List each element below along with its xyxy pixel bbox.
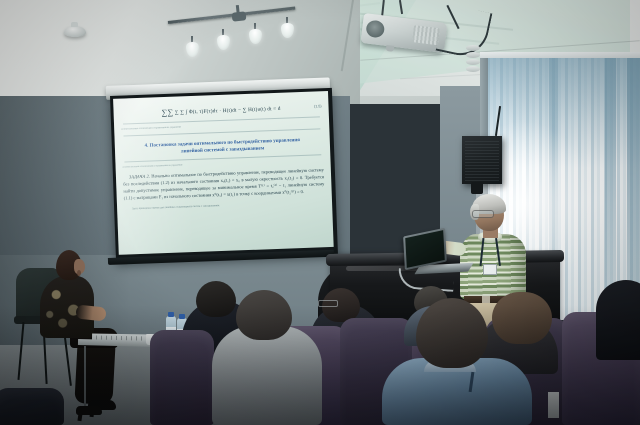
lecture-room-photo: ∑∑ ∑ ∑ ∫ Φ(t, τ)F(τ)dτ · H(t)dt − ∑ H(t)… <box>0 0 640 425</box>
slide-body: ЗАДАЧА 2. Начально оптимальное по быстро… <box>123 167 325 202</box>
audience-head <box>236 290 292 340</box>
pendant-lamp-icon <box>217 29 230 48</box>
bottle-cap <box>179 314 185 319</box>
laptop[interactable] <box>404 232 470 280</box>
smoke-detector-icon <box>64 26 86 37</box>
speaker-bracket <box>471 182 483 194</box>
woman-legs <box>74 341 115 405</box>
projection-screen: ∑∑ ∑ ∑ ∫ Φ(t, τ)F(τ)dτ · H(t)dt − ∑ H(t)… <box>110 88 338 262</box>
audience-head <box>492 292 552 344</box>
slide-formula-text: ∑ ∑ ∫ Φ(t, τ)F(τ)dτ · H(t)dt − ∑ H(t)u(t… <box>175 106 281 116</box>
slide-content: ∑∑ ∑ ∑ ∫ Φ(t, τ)F(τ)dτ · H(t)dt − ∑ H(t)… <box>113 91 334 255</box>
slide-footnote: Здесь приведены оценки для линейных стац… <box>124 200 325 210</box>
slide-equation-number: (1.5) <box>314 104 322 108</box>
wall-speaker <box>462 136 502 184</box>
pendant-lamp-icon <box>186 36 199 55</box>
bottle-cap <box>168 312 174 317</box>
track-light-mount <box>232 11 247 21</box>
projector-vent <box>412 25 440 45</box>
sprinkler-icon <box>466 44 476 74</box>
projector-lens-icon <box>365 19 385 38</box>
table-leg <box>84 346 86 406</box>
audience-seat[interactable] <box>150 330 214 425</box>
audience-member-silhouette <box>596 280 640 360</box>
presenter-badge <box>483 264 497 275</box>
audience-member-grey-shirt <box>212 326 322 425</box>
presenter-belt-buckle <box>482 296 490 303</box>
speaker-grille <box>465 139 499 181</box>
pendant-lamp-icon <box>281 17 294 36</box>
audience-glasses <box>318 300 338 307</box>
audience-head <box>196 281 236 317</box>
woman-shoe <box>76 406 102 415</box>
audience-head <box>416 298 488 368</box>
audience-seat[interactable] <box>0 388 64 425</box>
slide-problem-label: ЗАДАЧА 2. <box>129 173 150 179</box>
woman-ear <box>77 270 81 276</box>
seat-number-tag <box>548 392 559 418</box>
laptop-screen <box>405 230 445 268</box>
pendant-lamp-icon <box>249 23 262 42</box>
slide-heading: 4. Постановка задачи оптимального по быс… <box>128 137 317 158</box>
presenter-glasses <box>472 210 494 218</box>
